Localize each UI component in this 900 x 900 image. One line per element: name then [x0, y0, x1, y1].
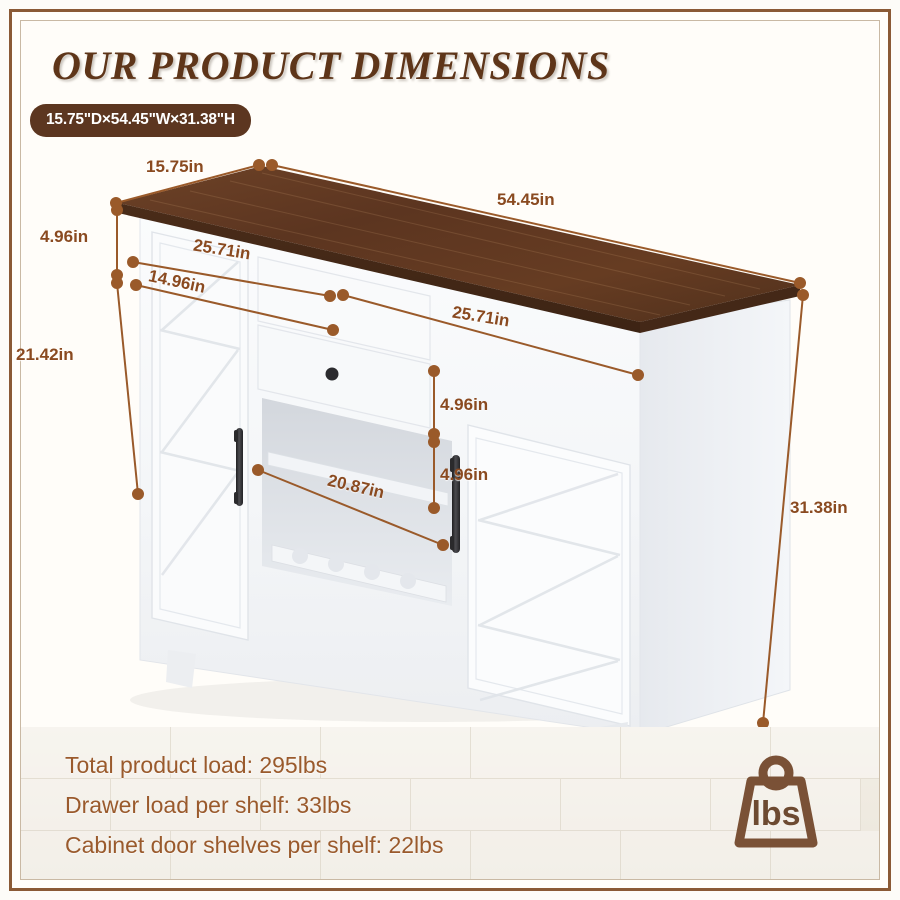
bg-tile [561, 779, 711, 831]
cabinet-foot-left [166, 650, 196, 688]
load-line-cabinet: Cabinet door shelves per shelf: 22lbs [65, 825, 443, 865]
bg-tile [471, 831, 621, 879]
load-line-total: Total product load: 295lbs [65, 745, 443, 785]
load-capacity-panel: Total product load: 295lbs Drawer load p… [21, 727, 879, 879]
dimension-label-width-top: 54.45in [497, 190, 555, 210]
infographic-root: OUR PRODUCT DIMENSIONS 15.75"D×54.45"W×3… [0, 0, 900, 900]
dimension-label-top-thickness: 4.96in [40, 227, 88, 247]
product-illustration: 15.75in 54.45in 4.96in 25.71in 14.96in 2… [0, 0, 900, 760]
bg-tile [471, 727, 621, 779]
weight-lbs-icon: lbs [721, 747, 831, 857]
dimension-label-drawer-2-height: 4.96in [440, 465, 488, 485]
dimension-label-drawer-1-height: 4.96in [440, 395, 488, 415]
dimension-label-depth-top: 15.75in [146, 157, 204, 177]
dimension-label-body-height: 21.42in [16, 345, 74, 365]
dimension-label-total-height: 31.38in [790, 498, 848, 518]
weight-icon-label: lbs [751, 795, 800, 833]
load-line-drawer: Drawer load per shelf: 33lbs [65, 785, 443, 825]
load-text-block: Total product load: 295lbs Drawer load p… [65, 745, 443, 865]
drawer-knob-top [326, 368, 339, 381]
